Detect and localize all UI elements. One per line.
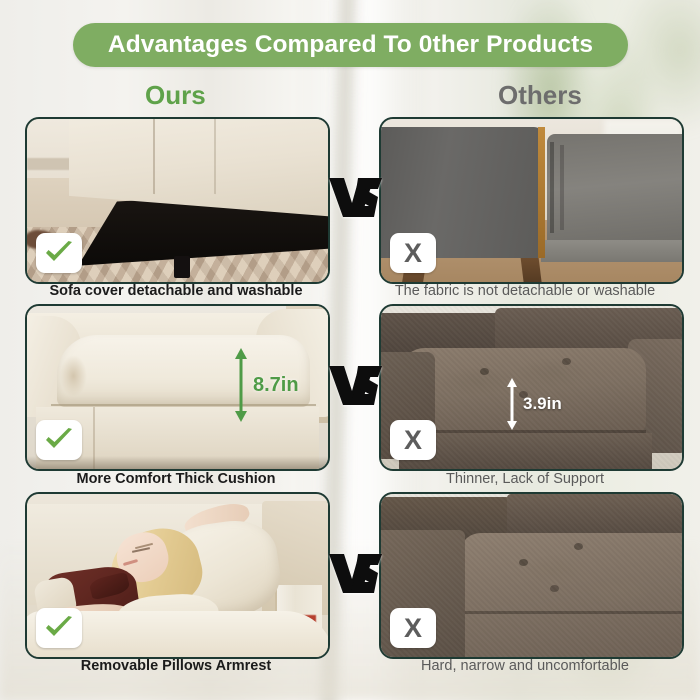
caption-others-2: Thinner, Lack of Support [360, 471, 690, 487]
cross-icon-glyph: X [404, 615, 422, 642]
measurement-label: 3.9in [523, 394, 562, 414]
title-banner: Advantages Compared To 0ther Products [73, 23, 628, 67]
cross-icon-glyph: X [404, 240, 422, 267]
caption-others-1: The fabric is not detachable or washable [360, 283, 690, 299]
column-header-others: Others [498, 80, 582, 111]
cross-icon: X [390, 608, 436, 648]
measurement-label: 8.7in [253, 374, 299, 397]
cross-icon: X [390, 233, 436, 273]
caption-ours-1: Sofa cover detachable and washable [11, 283, 341, 299]
panel-others-3: X [379, 492, 684, 659]
caption-ours-2: More Comfort Thick Cushion [11, 471, 341, 487]
measurement-ours-thickness: 8.7in [234, 348, 299, 422]
vs-divider-1 [326, 172, 386, 222]
measurement-others-thickness: 3.9in [506, 378, 562, 430]
check-icon [36, 233, 82, 273]
caption-ours-3: Removable Pillows Armrest [11, 658, 341, 674]
panel-ours-2: 8.7in [25, 304, 330, 471]
double-arrow-icon [506, 378, 518, 430]
vs-icon [328, 552, 384, 594]
panel-ours-3 [25, 492, 330, 659]
panel-others-1: X [379, 117, 684, 284]
double-arrow-icon [234, 348, 248, 422]
vs-divider-2 [326, 360, 386, 410]
check-icon [36, 608, 82, 648]
vs-icon [328, 176, 384, 218]
vs-icon [328, 364, 384, 406]
caption-others-3: Hard, narrow and uncomfortable [360, 658, 690, 674]
page-title: Advantages Compared To 0ther Products [108, 31, 593, 59]
panel-ours-1 [25, 117, 330, 284]
column-header-ours: Ours [145, 80, 206, 111]
comparison-infographic: Advantages Compared To 0ther Products Ou… [0, 0, 700, 700]
panel-others-2: 3.9in X [379, 304, 684, 471]
check-icon [36, 420, 82, 460]
vs-divider-3 [326, 548, 386, 598]
cross-icon-glyph: X [404, 427, 422, 454]
cross-icon: X [390, 420, 436, 460]
